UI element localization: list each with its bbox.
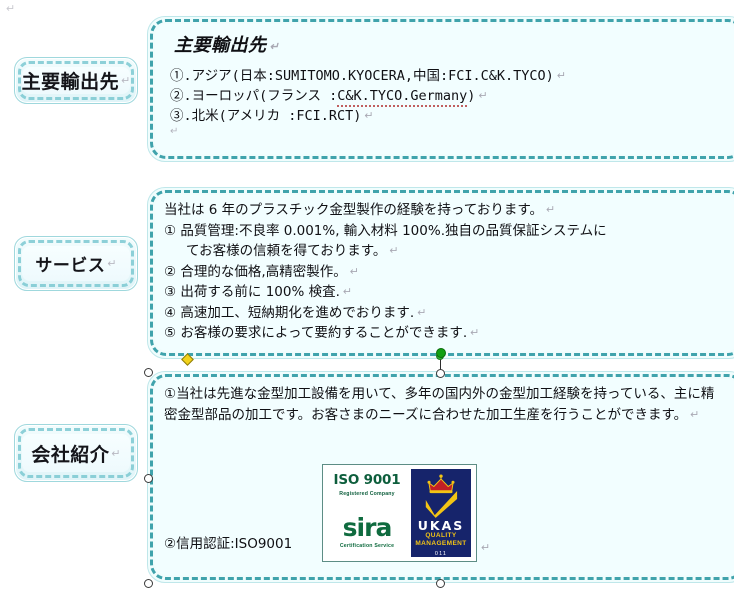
export-list-item-1-text: ①.アジア(日本:SUMITOMO.KYOCERA,中国:FCI.C&K.TYC… bbox=[170, 68, 554, 84]
ukas-word-text: UKAS bbox=[418, 520, 465, 533]
export-heading-text: 主要輸出先 bbox=[174, 35, 267, 56]
pilcrow-icon: ↵ bbox=[347, 266, 359, 278]
service-list-item-1-continuation: てお客様の信頼を得ております。↵ bbox=[164, 241, 734, 262]
service-list-item-5: ⑤ お客様の要求によって要約することができます.↵ bbox=[164, 323, 734, 344]
service-list-item-3-text: 出荷する前に 100% 検査. bbox=[180, 284, 339, 300]
ukas-panel: UKAS QUALITY MANAGEMENT 011 bbox=[411, 469, 471, 557]
certificate-pilcrow-icon: ↵ bbox=[481, 541, 490, 554]
certificate-sira-panel: ISO 9001 Registered Company sira Certifi… bbox=[323, 465, 411, 561]
rotation-handle[interactable] bbox=[436, 348, 446, 358]
stray-pilcrow-icon: ↵ bbox=[6, 2, 15, 15]
resize-handle-top-left[interactable] bbox=[144, 368, 153, 377]
company-paragraph-2-text: ②信用認証:ISO9001 bbox=[164, 536, 292, 552]
service-list-item-3-number: ③ bbox=[164, 284, 176, 300]
service-list-item-4-number: ④ bbox=[164, 305, 176, 321]
pilcrow-icon: ↵ bbox=[107, 257, 116, 270]
content-box-export-destinations[interactable]: 主要輸出先↵ ①.アジア(日本:SUMITOMO.KYOCERA,中国:FCI.… bbox=[147, 16, 734, 162]
pilcrow-icon: ↵ bbox=[414, 307, 426, 319]
resize-handle-bottom-center[interactable] bbox=[436, 579, 445, 588]
resize-handle-bottom-left[interactable] bbox=[144, 579, 153, 588]
pilcrow-icon: ↵ bbox=[340, 286, 352, 298]
content-box-service-body: 当社は 6 年のプラスチック金型製作の経験を持っております。↵ ① 品質管理:不… bbox=[148, 188, 734, 352]
service-list-item-5-number: ⑤ bbox=[164, 325, 176, 341]
iso9001-certificate-image[interactable]: ISO 9001 Registered Company sira Certifi… bbox=[322, 464, 477, 562]
label-pill-service-text: サービス bbox=[35, 251, 105, 276]
iso-subtitle-text: Registered Company bbox=[339, 491, 395, 497]
export-list-item-2: ②.ヨーロッパ(フランス :C&K.TYCO.Germany)↵ bbox=[170, 86, 734, 106]
checkmark-icon bbox=[419, 491, 463, 518]
ukas-number-text: 011 bbox=[435, 551, 447, 557]
service-list-item-1-continuation-text: てお客様の信頼を得ております。 bbox=[186, 243, 386, 259]
export-list-item-2-spellcheck-text: C&K.TYCO.Germany bbox=[337, 88, 467, 107]
company-paragraph-1: ①当社は先進な金型加工設備を用いて、多年の国内外の金型加工経験を持っている、主に… bbox=[164, 384, 716, 426]
service-list-item-2: ② 合理的な価格,高精密製作。↵ bbox=[164, 262, 734, 283]
label-pill-export-text: 主要輸出先 bbox=[22, 67, 120, 94]
service-list-item-4-text: 高速加工、短納期化を進めでおります. bbox=[180, 305, 414, 321]
export-trailing-pilcrow-icon: ↵ bbox=[170, 126, 734, 137]
label-pill-service[interactable]: サービス ↵ bbox=[14, 236, 138, 291]
service-list-item-1-number: ① bbox=[164, 223, 176, 239]
ukas-management-text: MANAGEMENT bbox=[415, 540, 466, 548]
service-list-item-1: ① 品質管理:不良率 0.001%, 輸入材料 100%.独自の品質保証システム… bbox=[164, 221, 734, 242]
service-intro-text: 当社は 6 年のプラスチック金型製作の経験を持っております。 bbox=[164, 202, 543, 218]
sira-subtitle-text: Certification Service bbox=[340, 543, 394, 549]
pilcrow-icon: ↵ bbox=[361, 110, 373, 122]
company-paragraph-1-text: ①当社は先進な金型加工設備を用いて、多年の国内外の金型加工経験を持っている、主に… bbox=[164, 386, 714, 423]
ukas-quality-text: QUALITY bbox=[425, 532, 456, 540]
pilcrow-icon: ↵ bbox=[687, 409, 699, 421]
pilcrow-icon: ↵ bbox=[475, 90, 487, 102]
service-list-item-4: ④ 高速加工、短納期化を進めでおります.↵ bbox=[164, 303, 734, 324]
service-list-item-1-text: 品質管理:不良率 0.001%, 輸入材料 100%.独自の品質保証システムに bbox=[180, 223, 606, 239]
resize-handle-middle-left[interactable] bbox=[144, 474, 153, 483]
service-intro-line: 当社は 6 年のプラスチック金型製作の経験を持っております。↵ bbox=[164, 200, 734, 221]
export-list-item-3: ③.北米(アメリカ :FCI.RCT)↵ bbox=[170, 106, 734, 126]
pilcrow-icon: ↵ bbox=[543, 204, 555, 216]
company-paragraph-2: ②信用認証:ISO9001 bbox=[164, 534, 292, 555]
content-box-service[interactable]: 当社は 6 年のプラスチック金型製作の経験を持っております。↵ ① 品質管理:不… bbox=[147, 187, 734, 359]
content-box-company-body: ①当社は先進な金型加工設備を用いて、多年の国内外の金型加工経験を持っている、主に… bbox=[148, 372, 734, 434]
export-list-item-1: ①.アジア(日本:SUMITOMO.KYOCERA,中国:FCI.C&K.TYC… bbox=[170, 66, 734, 86]
document-page: ↵ 主要輸出先 ↵ サービス ↵ 会社紹介 ↵ 主要輸出先↵ ①.アジア(日本:… bbox=[0, 0, 734, 595]
pilcrow-icon: ↵ bbox=[121, 74, 130, 87]
pilcrow-icon: ↵ bbox=[267, 41, 280, 53]
content-box-export-body: 主要輸出先↵ ①.アジア(日本:SUMITOMO.KYOCERA,中国:FCI.… bbox=[148, 17, 734, 145]
service-list-item-2-number: ② bbox=[164, 264, 176, 280]
sira-brand-text: sira bbox=[343, 515, 392, 540]
label-pill-export-destinations[interactable]: 主要輸出先 ↵ bbox=[14, 57, 138, 104]
service-list-item-3: ③ 出荷する前に 100% 検査.↵ bbox=[164, 282, 734, 303]
service-list-item-2-text: 合理的な価格,高精密製作。 bbox=[180, 264, 346, 280]
export-list-item-2-prefix: ②.ヨーロッパ(フランス : bbox=[170, 88, 337, 104]
label-pill-company-text: 会社紹介 bbox=[31, 440, 109, 467]
pilcrow-icon: ↵ bbox=[554, 70, 566, 82]
pilcrow-icon: ↵ bbox=[467, 327, 479, 339]
iso-title-text: ISO 9001 bbox=[334, 474, 401, 488]
label-pill-company-intro[interactable]: 会社紹介 ↵ bbox=[14, 424, 138, 482]
service-list-item-5-text: お客様の要求によって要約することができます. bbox=[180, 325, 467, 341]
export-list-item-3-text: ③.北米(アメリカ :FCI.RCT) bbox=[170, 108, 361, 124]
pilcrow-icon: ↵ bbox=[111, 447, 120, 460]
resize-handle-top-center[interactable] bbox=[436, 369, 445, 378]
pilcrow-icon: ↵ bbox=[386, 245, 398, 257]
export-heading-row: 主要輸出先↵ bbox=[174, 31, 734, 57]
